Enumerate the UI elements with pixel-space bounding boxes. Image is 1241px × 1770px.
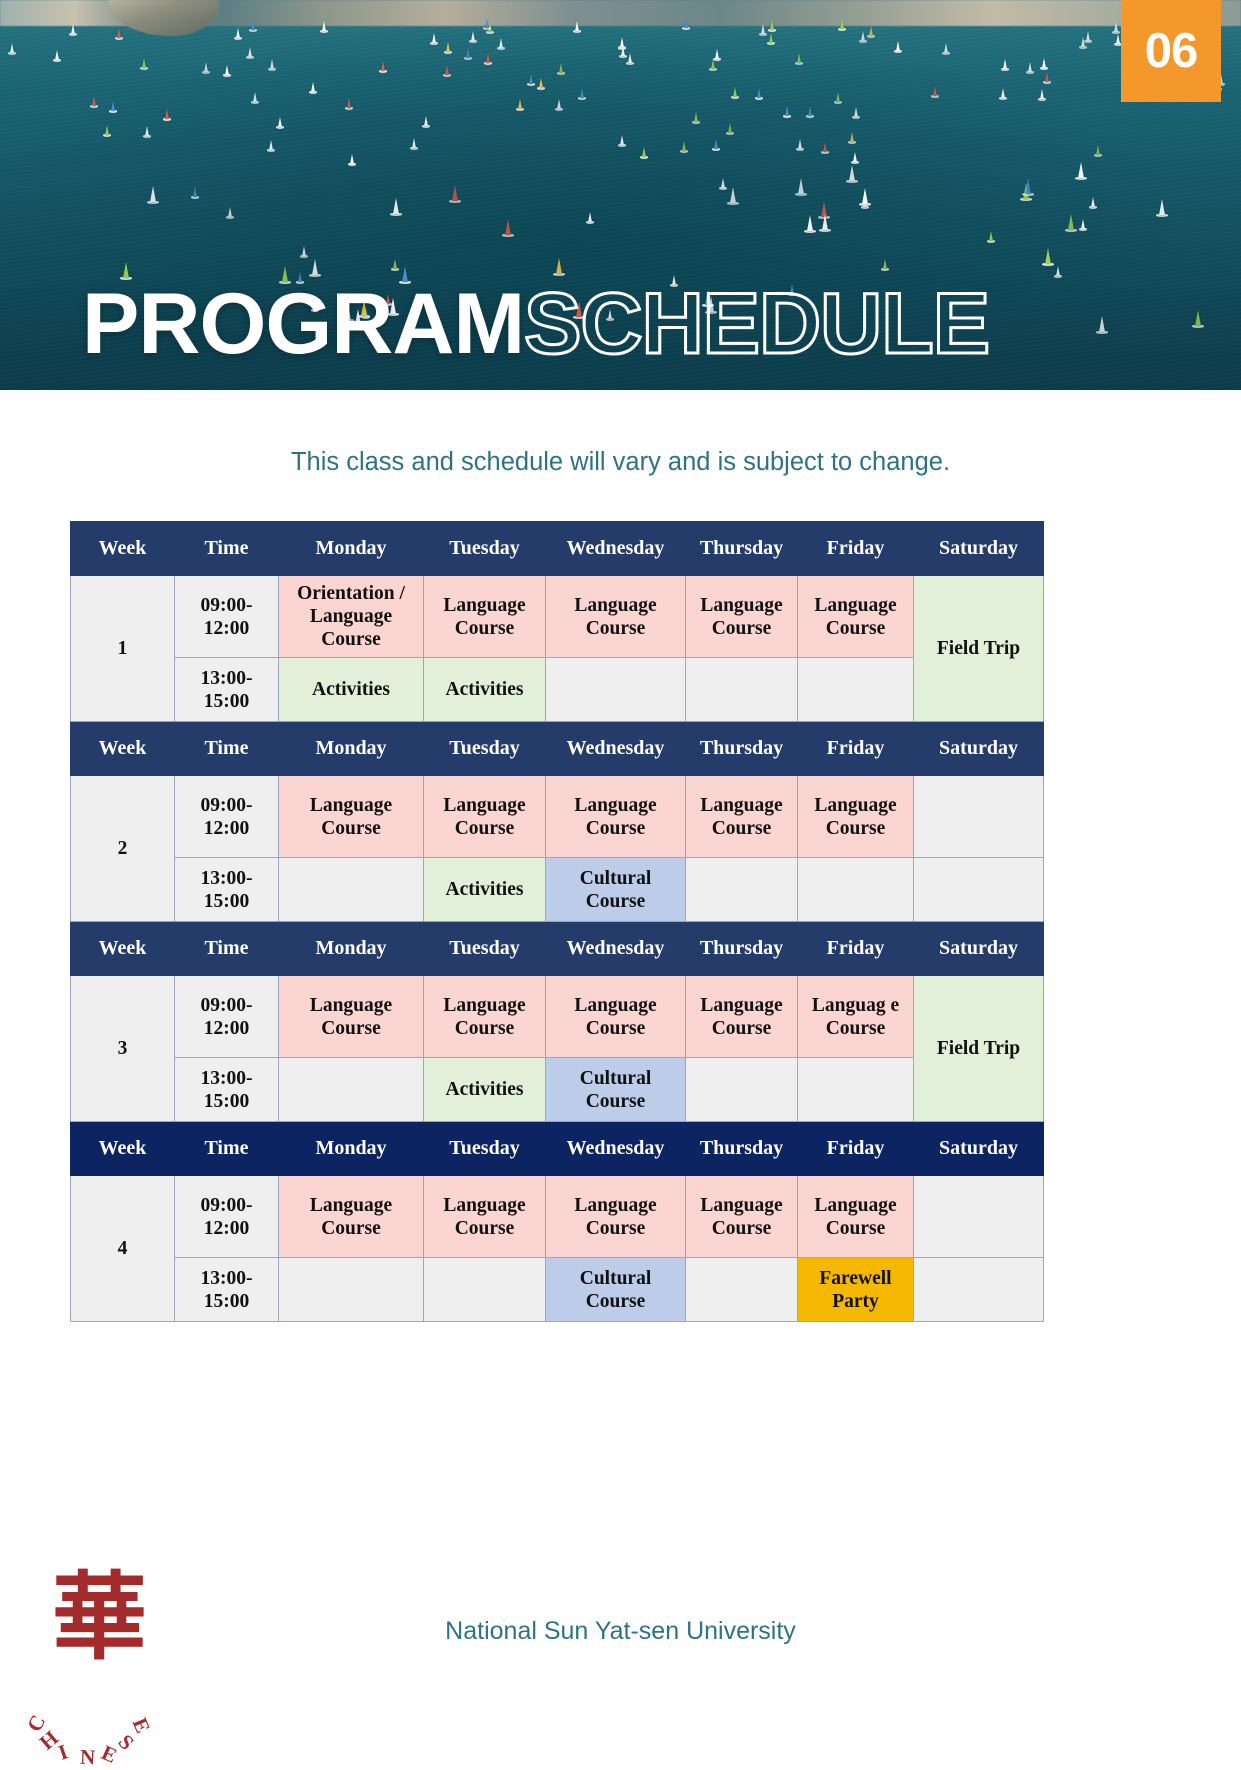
sailboat-icon — [71, 24, 77, 36]
sailboat-icon — [236, 28, 242, 40]
table-row: 13:00-15:00Cultural CourseFarewell Party — [71, 1258, 1044, 1322]
sailboat-icon — [559, 63, 565, 75]
table-row: 13:00-15:00ActivitiesActivities — [71, 658, 1044, 722]
page-footer: 華 CHINESE National Sun Yat-sen Universit… — [0, 1565, 1241, 1755]
sailboat-icon — [808, 106, 814, 118]
schedule-cell: Languag e Course — [798, 976, 914, 1058]
sailboat-icon — [715, 49, 721, 61]
schedule-cell: Language Course — [424, 576, 546, 658]
sailboat-icon — [620, 135, 626, 147]
program-schedule-table: WeekTimeMondayTuesdayWednesdayThursdayFr… — [70, 521, 1044, 1322]
sailboat-icon — [393, 198, 402, 216]
schedule-cell — [798, 858, 914, 922]
schedule-cell: Language Course — [424, 776, 546, 858]
column-header-wednesday: Wednesday — [546, 1122, 686, 1176]
schedule-cell — [279, 1258, 424, 1322]
schedule-cell — [279, 1058, 424, 1122]
sailboat-icon — [278, 117, 284, 129]
schedule-cell: Language Course — [686, 776, 798, 858]
schedule-cell: Language Course — [546, 1176, 686, 1258]
sailboat-icon — [142, 58, 148, 70]
sailboat-icon — [757, 88, 763, 100]
column-header-tuesday: Tuesday — [424, 922, 546, 976]
column-header-time: Time — [175, 1122, 279, 1176]
schedule-cell: Language Course — [686, 1176, 798, 1258]
sailboat-icon — [628, 53, 634, 65]
schedule-cell: Activities — [424, 858, 546, 922]
sailboat-icon — [883, 259, 889, 271]
sailboat-icon — [322, 21, 328, 33]
column-header-monday: Monday — [279, 922, 424, 976]
schedule-cell: Orientation / Language Course — [279, 576, 424, 658]
sailboat-icon — [105, 125, 111, 137]
sailboat-icon — [849, 165, 858, 183]
sailboat-icon — [714, 139, 720, 151]
schedule-cell — [914, 1176, 1044, 1258]
week-number-cell: 4 — [71, 1176, 175, 1322]
schedule-cell — [686, 1058, 798, 1122]
sailboat-icon — [539, 78, 545, 90]
title-program: PROGRAM — [82, 276, 524, 372]
sailboat-icon — [485, 18, 491, 30]
sailboat-icon — [850, 132, 856, 144]
table-header-row: WeekTimeMondayTuesdayWednesdayThursdayFr… — [71, 522, 1044, 576]
sailboat-icon — [1040, 89, 1046, 101]
sailboat-icon — [944, 43, 950, 55]
schedule-cell — [279, 858, 424, 922]
sailboat-icon — [853, 152, 859, 164]
schedule-cell — [424, 1258, 546, 1322]
sailboat-icon — [770, 20, 776, 32]
sailboat-icon — [150, 186, 159, 204]
schedule-cell: Language Course — [279, 776, 424, 858]
page-number-badge: 06 — [1121, 0, 1221, 102]
schedule-cell: Activities — [279, 658, 424, 722]
column-header-wednesday: Wednesday — [546, 522, 686, 576]
sailboat-icon — [466, 48, 472, 60]
sailboat-icon — [381, 61, 387, 73]
sailboat-icon — [269, 140, 275, 152]
time-slot-afternoon: 13:00-15:00 — [175, 858, 279, 922]
column-header-saturday: Saturday — [914, 722, 1044, 776]
schedule-cell: Cultural Course — [546, 1058, 686, 1122]
schedule-cell: Language Course — [686, 976, 798, 1058]
sailboat-icon — [733, 87, 739, 99]
time-slot-morning: 09:00-12:00 — [175, 1176, 279, 1258]
sailboat-icon — [642, 147, 648, 159]
sailboat-icon — [1045, 72, 1051, 84]
sailboat-icon — [1078, 162, 1087, 180]
column-header-time: Time — [175, 722, 279, 776]
university-name: National Sun Yat-sen University — [0, 1617, 1241, 1646]
table-header-row: WeekTimeMondayTuesdayWednesdayThursdayFr… — [71, 1122, 1044, 1176]
wordmark-letter: E — [126, 1714, 154, 1737]
sailboat-icon — [204, 62, 210, 74]
sailboat-icon — [412, 138, 418, 150]
table-row: 209:00-12:00Language CourseLanguage Cour… — [71, 776, 1044, 858]
sailboat-icon — [730, 187, 739, 205]
schedule-cell — [798, 1058, 914, 1122]
schedule-cell: Cultural Course — [546, 1258, 686, 1322]
sailboat-icon — [251, 20, 257, 32]
sailboat-icon — [452, 185, 461, 203]
sailboat-icon — [822, 214, 831, 232]
page-title: PROGRAMSCHEDULE — [82, 283, 989, 366]
sailboat-icon — [193, 187, 199, 199]
sailboat-icon — [92, 96, 98, 108]
sailboat-icon — [797, 53, 803, 65]
sailboat-icon — [1042, 58, 1048, 70]
schedule-cell — [546, 658, 686, 722]
column-header-week: Week — [71, 1122, 175, 1176]
table-header-row: WeekTimeMondayTuesdayWednesdayThursdayFr… — [71, 722, 1044, 776]
sailboat-icon — [1068, 214, 1077, 232]
sailboat-icon — [557, 99, 563, 111]
schedule-cell: Language Course — [798, 1176, 914, 1258]
wordmark-letter: N — [80, 1745, 96, 1770]
sailboat-icon — [446, 42, 452, 54]
sailboat-icon — [854, 107, 860, 119]
sailboat-icon — [1159, 199, 1168, 217]
page-number: 06 — [1145, 23, 1198, 79]
sailboat-icon — [350, 154, 356, 166]
hero-banner: PROGRAMSCHEDULE 06 — [0, 0, 1241, 390]
title-schedule: SCHEDULE — [524, 276, 989, 372]
column-header-saturday: Saturday — [914, 1122, 1044, 1176]
time-slot-morning: 09:00-12:00 — [175, 776, 279, 858]
sailboat-icon — [823, 142, 829, 154]
sailboat-icon — [721, 178, 727, 190]
schedule-cell: Language Course — [546, 776, 686, 858]
schedule-cell: Field Trip — [914, 576, 1044, 722]
schedule-disclaimer: This class and schedule will vary and is… — [0, 390, 1241, 477]
sailboat-icon — [347, 98, 353, 110]
schedule-cell: Language Course — [279, 1176, 424, 1258]
sailboat-icon — [933, 86, 939, 98]
sailboat-icon — [225, 65, 231, 77]
time-slot-afternoon: 13:00-15:00 — [175, 1258, 279, 1322]
schedule-cell: Language Course — [424, 976, 546, 1058]
column-header-tuesday: Tuesday — [424, 522, 546, 576]
schedule-cell: Language Course — [798, 776, 914, 858]
table-row: 409:00-12:00Language CourseLanguage Cour… — [71, 1176, 1044, 1258]
column-header-thursday: Thursday — [686, 722, 798, 776]
schedule-cell: Language Course — [546, 976, 686, 1058]
schedule-cell — [686, 658, 798, 722]
schedule-cell: Field Trip — [914, 976, 1044, 1122]
sailboat-icon — [798, 139, 804, 151]
sailboat-icon — [505, 219, 514, 237]
schedule-cell — [914, 858, 1044, 922]
column-header-monday: Monday — [279, 522, 424, 576]
sailboat-icon — [471, 31, 477, 43]
sailboat-icon — [270, 59, 276, 71]
column-header-thursday: Thursday — [686, 922, 798, 976]
sailboat-icon — [248, 47, 254, 59]
column-header-friday: Friday — [798, 1122, 914, 1176]
column-header-time: Time — [175, 522, 279, 576]
schedule-cell — [686, 858, 798, 922]
column-header-monday: Monday — [279, 1122, 424, 1176]
sailboat-icon — [1091, 197, 1097, 209]
table-row: 13:00-15:00ActivitiesCultural Course — [71, 1058, 1044, 1122]
column-header-monday: Monday — [279, 722, 424, 776]
sailboat-icon — [869, 26, 875, 38]
table-header-row: WeekTimeMondayTuesdayWednesdayThursdayFr… — [71, 922, 1044, 976]
column-header-friday: Friday — [798, 522, 914, 576]
sailboat-icon — [840, 19, 846, 31]
schedule-cell: Activities — [424, 1058, 546, 1122]
sailboat-icon — [896, 41, 902, 53]
sailboat-icon — [117, 28, 123, 40]
sailboat-icon — [312, 259, 321, 277]
sailboat-icon — [621, 46, 627, 58]
sailboat-icon — [862, 188, 871, 206]
sailboat-icon — [445, 65, 451, 77]
column-header-saturday: Saturday — [914, 522, 1044, 576]
sailboat-icon — [55, 50, 61, 62]
schedule-cell: Language Course — [424, 1176, 546, 1258]
sailboat-icon — [111, 101, 117, 113]
schedule-cell: Language Course — [798, 576, 914, 658]
sailboat-icon — [424, 116, 430, 128]
column-header-time: Time — [175, 922, 279, 976]
sailboat-icon — [499, 38, 505, 50]
week-number-cell: 3 — [71, 976, 175, 1122]
column-header-thursday: Thursday — [686, 522, 798, 576]
sailboat-icon — [861, 31, 867, 43]
sailboat-icon — [785, 106, 791, 118]
column-header-wednesday: Wednesday — [546, 722, 686, 776]
sailboat-icon — [575, 21, 581, 33]
sailboat-icon — [432, 33, 438, 45]
week-number-cell: 2 — [71, 776, 175, 922]
week-number-cell: 1 — [71, 576, 175, 722]
schedule-cell — [914, 776, 1044, 858]
schedule-table-wrapper: WeekTimeMondayTuesdayWednesdayThursdayFr… — [70, 521, 1043, 1322]
time-slot-afternoon: 13:00-15:00 — [175, 1058, 279, 1122]
column-header-friday: Friday — [798, 922, 914, 976]
schedule-cell — [686, 1258, 798, 1322]
sailboat-icon — [228, 207, 234, 219]
column-header-tuesday: Tuesday — [424, 1122, 546, 1176]
schedule-cell: Farewell Party — [798, 1258, 914, 1322]
sailboat-icon — [989, 231, 995, 243]
sailboat-icon — [1056, 266, 1062, 278]
sailboat-icon — [836, 92, 842, 104]
time-slot-afternoon: 13:00-15:00 — [175, 658, 279, 722]
schedule-cell — [798, 658, 914, 722]
sailboat-icon — [1001, 88, 1007, 100]
column-header-friday: Friday — [798, 722, 914, 776]
sailboat-icon — [253, 92, 259, 104]
sailboat-icon — [807, 215, 816, 233]
sailboat-icon — [1028, 62, 1034, 74]
schedule-cell — [914, 1258, 1044, 1322]
sailboat-icon — [769, 33, 775, 45]
sailboat-icon — [518, 99, 524, 111]
schedule-cell: Language Course — [686, 576, 798, 658]
column-header-week: Week — [71, 922, 175, 976]
sailboat-icon — [1003, 59, 1009, 71]
sailboat-icon — [588, 212, 594, 224]
schedule-cell: Language Course — [546, 576, 686, 658]
column-header-week: Week — [71, 522, 175, 576]
table-row: 109:00-12:00Orientation / Language Cours… — [71, 576, 1044, 658]
sailboat-icon — [684, 18, 690, 30]
sailboat-icon — [694, 112, 700, 124]
table-row: 13:00-15:00ActivitiesCultural Course — [71, 858, 1044, 922]
column-header-thursday: Thursday — [686, 1122, 798, 1176]
sailboat-icon — [682, 141, 688, 153]
sailboat-icon — [761, 24, 767, 36]
sailboat-icon — [728, 123, 734, 135]
sailboat-icon — [1045, 248, 1054, 266]
chinese-wordmark: CHINESE — [30, 1639, 160, 1699]
sailboat-icon — [145, 126, 151, 138]
sailboat-icon — [1096, 145, 1102, 157]
sailboat-icon — [1025, 178, 1034, 196]
sailboat-icon — [529, 74, 535, 86]
wordmark-letter: I — [55, 1740, 71, 1766]
schedule-cell: Cultural Course — [546, 858, 686, 922]
column-header-tuesday: Tuesday — [424, 722, 546, 776]
sailboat-icon — [1081, 37, 1087, 49]
sailboat-icon — [580, 88, 586, 100]
column-header-saturday: Saturday — [914, 922, 1044, 976]
sailboat-icon — [165, 109, 171, 121]
time-slot-morning: 09:00-12:00 — [175, 976, 279, 1058]
sailboat-icon — [556, 258, 565, 276]
column-header-week: Week — [71, 722, 175, 776]
time-slot-morning: 09:00-12:00 — [175, 576, 279, 658]
sailboat-icon — [1195, 310, 1204, 328]
schedule-cell: Language Course — [279, 976, 424, 1058]
sailboat-icon — [486, 53, 492, 65]
sailboat-icon — [393, 259, 399, 271]
column-header-wednesday: Wednesday — [546, 922, 686, 976]
schedule-cell: Activities — [424, 658, 546, 722]
sailboat-icon — [1114, 22, 1120, 34]
table-row: 309:00-12:00Language CourseLanguage Cour… — [71, 976, 1044, 1058]
sailboat-icon — [311, 82, 317, 94]
sailboat-icon — [10, 43, 16, 55]
sailboat-icon — [1081, 219, 1087, 231]
sailboat-icon — [1099, 316, 1108, 334]
sailboat-icon — [302, 246, 308, 258]
sailboat-icon — [798, 178, 807, 196]
